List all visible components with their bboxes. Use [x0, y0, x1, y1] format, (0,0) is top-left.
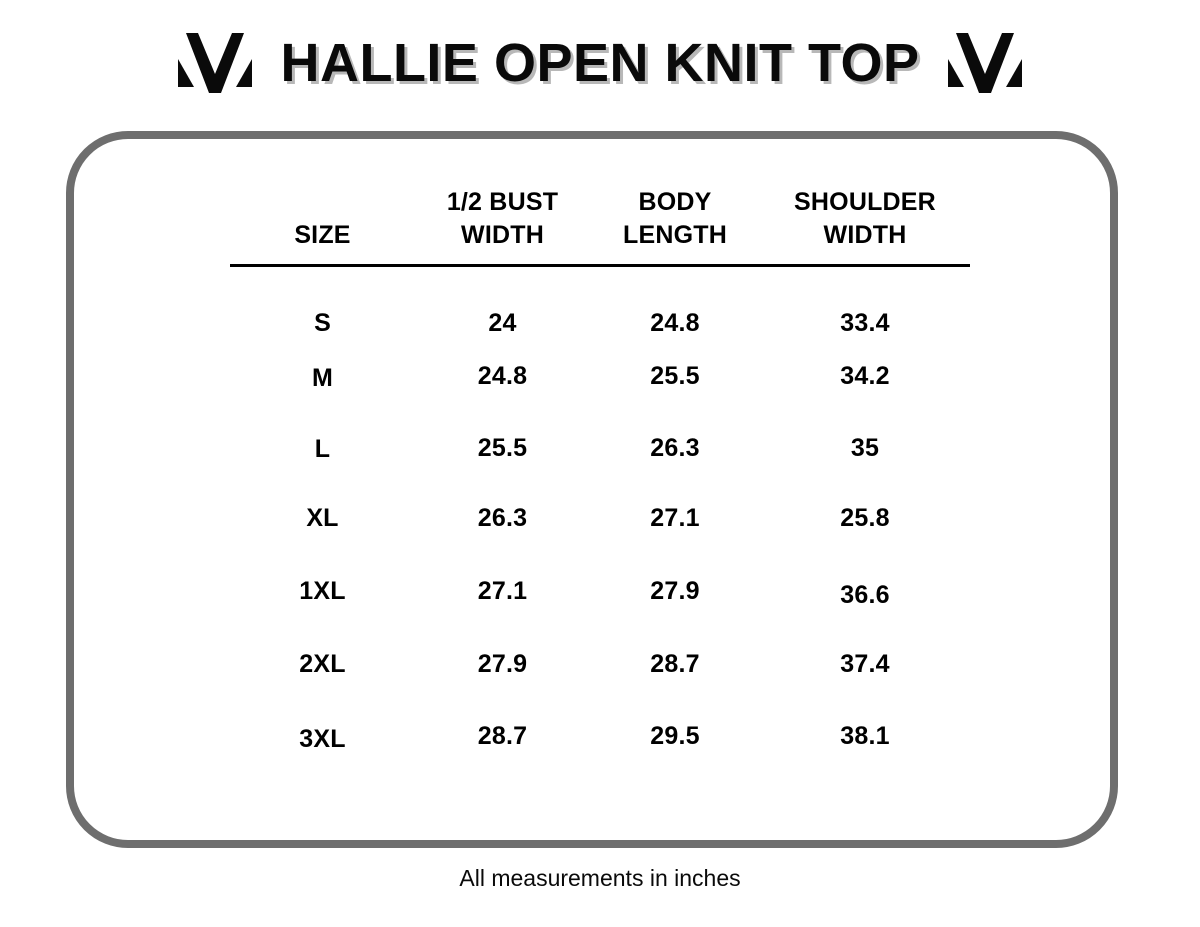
cell-size: 2XL [230, 630, 415, 699]
brand-v-mark-icon-right [946, 32, 1024, 94]
cell-shoulder-width: 36.6 [760, 553, 970, 630]
cell-size: 3XL [230, 699, 415, 774]
cell-size: 1XL [230, 553, 415, 630]
cell-body-length: 29.5 [590, 699, 760, 774]
cell-bust-width: 27.9 [415, 630, 590, 699]
column-header-bust-width-line2: WIDTH [461, 221, 544, 249]
cell-body-length: 28.7 [590, 630, 760, 699]
cell-body-length: 26.3 [590, 413, 760, 484]
column-header-bust-width: 1/2 BUST WIDTH [415, 186, 590, 266]
size-chart-table: SIZE 1/2 BUST WIDTH BODY LENGTH SHOULDER… [230, 186, 970, 774]
column-header-size: SIZE [230, 186, 415, 266]
column-header-shoulder-width-line1: SHOULDER [794, 188, 936, 216]
cell-shoulder-width: 37.4 [760, 630, 970, 699]
page-header: HALLIE OPEN KNIT TOP [0, 18, 1200, 108]
table-body: S 24 24.8 33.4 M 24.8 25.5 34.2 L 25.5 2… [230, 266, 970, 775]
measurement-units-note: All measurements in inches [0, 865, 1200, 892]
cell-shoulder-width: 38.1 [760, 699, 970, 774]
cell-bust-width: 27.1 [415, 553, 590, 630]
cell-bust-width: 26.3 [415, 484, 590, 553]
cell-shoulder-width: 25.8 [760, 484, 970, 553]
brand-v-mark-icon-left [176, 32, 254, 94]
table-row: L 25.5 26.3 35 [230, 413, 970, 484]
cell-size: L [230, 413, 415, 484]
cell-shoulder-width: 33.4 [760, 266, 970, 341]
column-header-body-length-line1: BODY [638, 188, 711, 216]
table-header: SIZE 1/2 BUST WIDTH BODY LENGTH SHOULDER… [230, 186, 970, 266]
column-header-size-line1: SIZE [294, 221, 350, 249]
cell-body-length: 27.9 [590, 553, 760, 630]
column-header-shoulder-width: SHOULDER WIDTH [760, 186, 970, 266]
cell-bust-width: 24.8 [415, 340, 590, 413]
cell-body-length: 27.1 [590, 484, 760, 553]
table-row: S 24 24.8 33.4 [230, 266, 970, 341]
cell-body-length: 25.5 [590, 340, 760, 413]
column-header-body-length-line2: LENGTH [623, 221, 727, 249]
table-header-row: SIZE 1/2 BUST WIDTH BODY LENGTH SHOULDER… [230, 186, 970, 266]
table-row: M 24.8 25.5 34.2 [230, 340, 970, 413]
cell-size: S [230, 266, 415, 341]
column-header-bust-width-line1: 1/2 BUST [447, 188, 558, 216]
cell-shoulder-width: 34.2 [760, 340, 970, 413]
cell-bust-width: 25.5 [415, 413, 590, 484]
table-row: 2XL 27.9 28.7 37.4 [230, 630, 970, 699]
cell-bust-width: 28.7 [415, 699, 590, 774]
cell-bust-width: 24 [415, 266, 590, 341]
column-header-shoulder-width-line2: WIDTH [824, 221, 907, 249]
table-row: 1XL 27.1 27.9 36.6 [230, 553, 970, 630]
cell-size: M [230, 340, 415, 413]
cell-shoulder-width: 35 [760, 413, 970, 484]
table-row: 3XL 28.7 29.5 38.1 [230, 699, 970, 774]
table-row: XL 26.3 27.1 25.8 [230, 484, 970, 553]
page-title: HALLIE OPEN KNIT TOP [280, 36, 919, 90]
column-header-body-length: BODY LENGTH [590, 186, 760, 266]
cell-size: XL [230, 484, 415, 553]
cell-body-length: 24.8 [590, 266, 760, 341]
